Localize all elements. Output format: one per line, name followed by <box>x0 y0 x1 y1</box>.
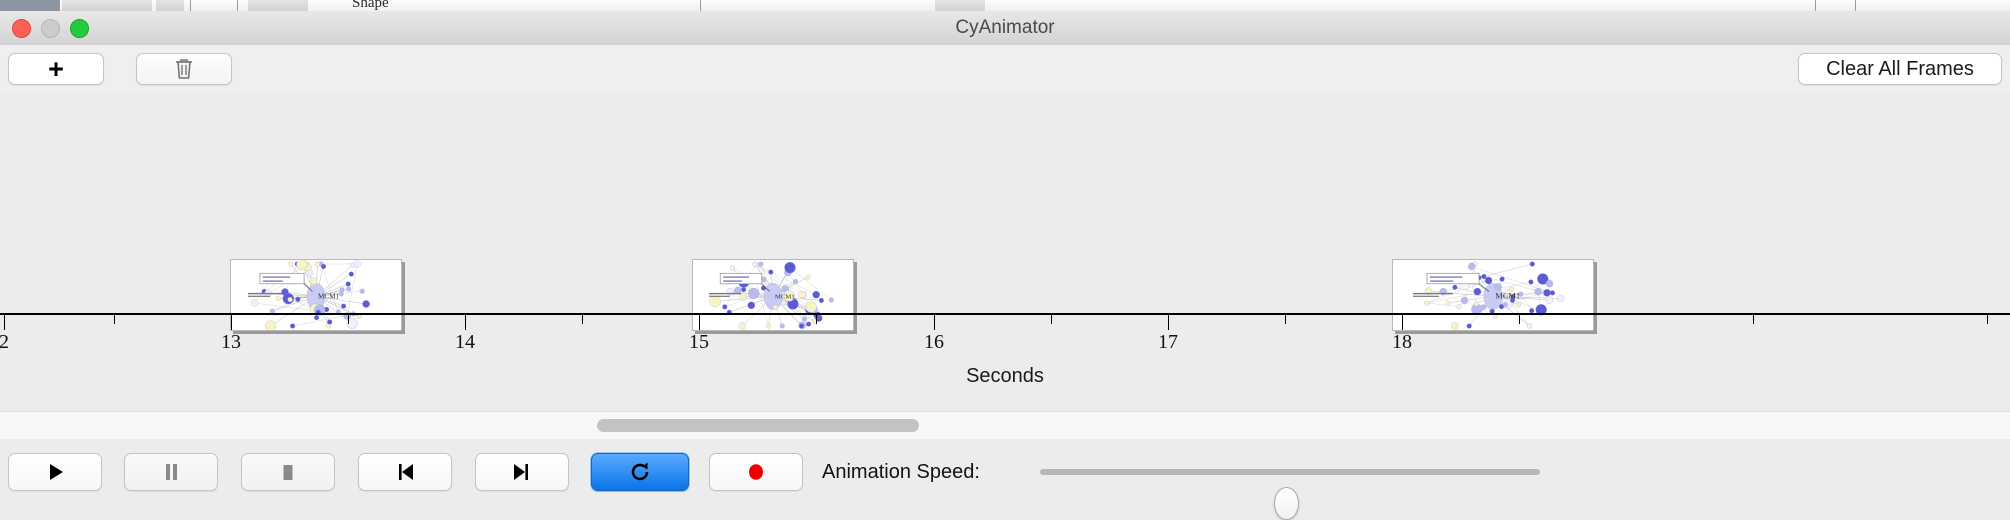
timeline-tick <box>1402 315 1403 330</box>
add-frame-button[interactable]: + <box>8 53 104 85</box>
timeline-tick-label: 16 <box>924 331 944 354</box>
timeline-tick-label: 15 <box>689 331 709 354</box>
loop-icon <box>628 460 652 484</box>
clear-all-frames-label: Clear All Frames <box>1826 58 1974 81</box>
timeline-minor-tick <box>348 315 349 324</box>
timeline-minor-tick <box>816 315 817 324</box>
background-window-segment <box>156 0 184 11</box>
frame-thumbnail[interactable]: MCM1 <box>692 259 854 331</box>
clear-all-frames-button[interactable]: Clear All Frames <box>1798 53 2002 85</box>
timeline-minor-tick <box>114 315 115 324</box>
background-window-tick <box>1815 0 1816 11</box>
skip-end-button[interactable] <box>475 453 569 491</box>
background-window-tick <box>700 0 701 11</box>
timeline-panel[interactable]: MCM1MCM1MCM1 2131415161718 Seconds <box>0 91 2010 411</box>
record-icon <box>745 461 767 483</box>
toolbar: + Clear All Frames <box>0 45 2010 92</box>
pause-icon <box>160 461 182 483</box>
timeline-minor-tick <box>1285 315 1286 324</box>
animation-speed-slider[interactable] <box>1040 469 1540 475</box>
timeline-tick-label: 14 <box>455 331 475 354</box>
background-window-tick <box>237 0 238 11</box>
play-button[interactable] <box>8 453 102 491</box>
record-button[interactable] <box>709 453 803 491</box>
background-window-chip <box>0 0 60 11</box>
svg-text:MCM1: MCM1 <box>318 292 339 300</box>
timeline-tick-label: 13 <box>221 331 241 354</box>
plus-icon: + <box>48 56 64 83</box>
playback-controls: Animation Speed: <box>0 439 2010 510</box>
timeline-minor-tick <box>1753 315 1754 324</box>
animation-speed-thumb[interactable] <box>1274 487 1299 520</box>
timeline-scrollbar[interactable] <box>0 411 2010 441</box>
svg-text:MCM1: MCM1 <box>1495 291 1520 300</box>
cyanimator-window: Shape CyAnimator + Clear All Frames <box>0 0 2010 510</box>
timeline-tick <box>231 315 232 330</box>
pause-button[interactable] <box>124 453 218 491</box>
background-window-segment <box>62 0 152 11</box>
timeline-axis <box>0 313 2010 315</box>
timeline-tick-label: 2 <box>0 331 9 354</box>
background-window-tick <box>1855 0 1856 11</box>
trash-icon <box>173 57 195 81</box>
skip-forward-icon <box>511 461 533 483</box>
timeline-tick <box>699 315 700 330</box>
axis-title: Seconds <box>0 365 2010 388</box>
background-window-segment <box>248 0 308 11</box>
timeline-tick <box>465 315 466 330</box>
frame-thumbnail[interactable]: MCM1 <box>1392 259 1594 331</box>
delete-frame-button[interactable] <box>136 53 232 85</box>
skip-back-icon <box>394 461 416 483</box>
frame-thumbnail[interactable]: MCM1 <box>230 259 402 331</box>
svg-text:MCM1: MCM1 <box>775 293 795 300</box>
timeline-tick <box>4 315 5 330</box>
stop-button[interactable] <box>241 453 335 491</box>
play-icon <box>44 461 66 483</box>
timeline-tick <box>1168 315 1169 330</box>
background-window-tick <box>190 0 191 11</box>
timeline-minor-tick <box>1051 315 1052 324</box>
background-window-segment <box>935 0 985 11</box>
timeline-minor-tick <box>1519 315 1520 324</box>
skip-start-button[interactable] <box>358 453 452 491</box>
timeline-tick-label: 18 <box>1392 331 1412 354</box>
stop-icon <box>277 461 299 483</box>
loop-button[interactable] <box>591 453 689 491</box>
scrollbar-thumb[interactable] <box>597 419 919 432</box>
timeline-minor-tick <box>1987 315 1988 324</box>
window-title: CyAnimator <box>0 11 2010 45</box>
animation-speed-label: Animation Speed: <box>822 453 980 491</box>
timeline-minor-tick <box>582 315 583 324</box>
timeline-tick <box>934 315 935 330</box>
timeline-tick-label: 17 <box>1158 331 1178 354</box>
